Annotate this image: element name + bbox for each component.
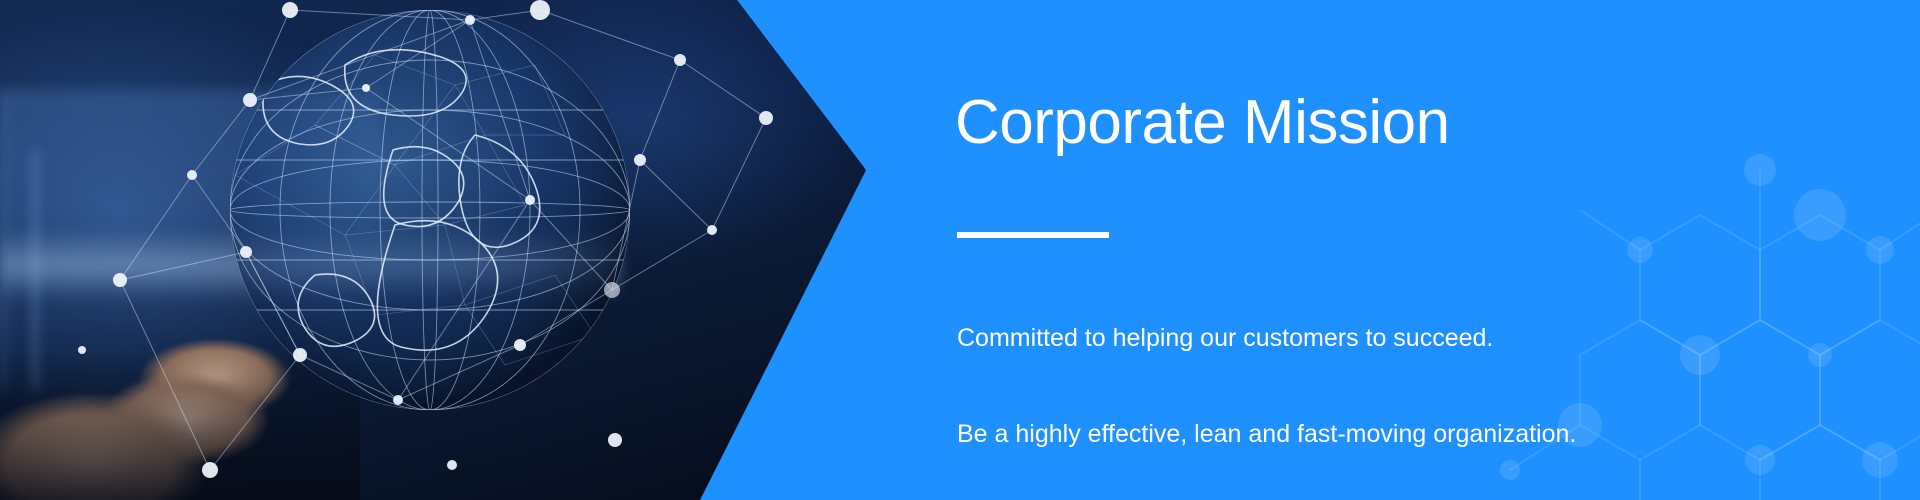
mission-statement: Committed to helping our customers to su… xyxy=(957,258,1599,500)
mission-line-2: Be a highly effective, lean and fast-mov… xyxy=(957,418,1599,450)
mission-line-1: Committed to helping our customers to su… xyxy=(957,322,1599,354)
mission-content: Corporate Mission Committed to helping o… xyxy=(955,0,1855,500)
title-divider xyxy=(957,232,1109,238)
page-title: Corporate Mission xyxy=(955,88,1450,158)
corporate-mission-banner: Corporate Mission Committed to helping o… xyxy=(0,0,1920,500)
